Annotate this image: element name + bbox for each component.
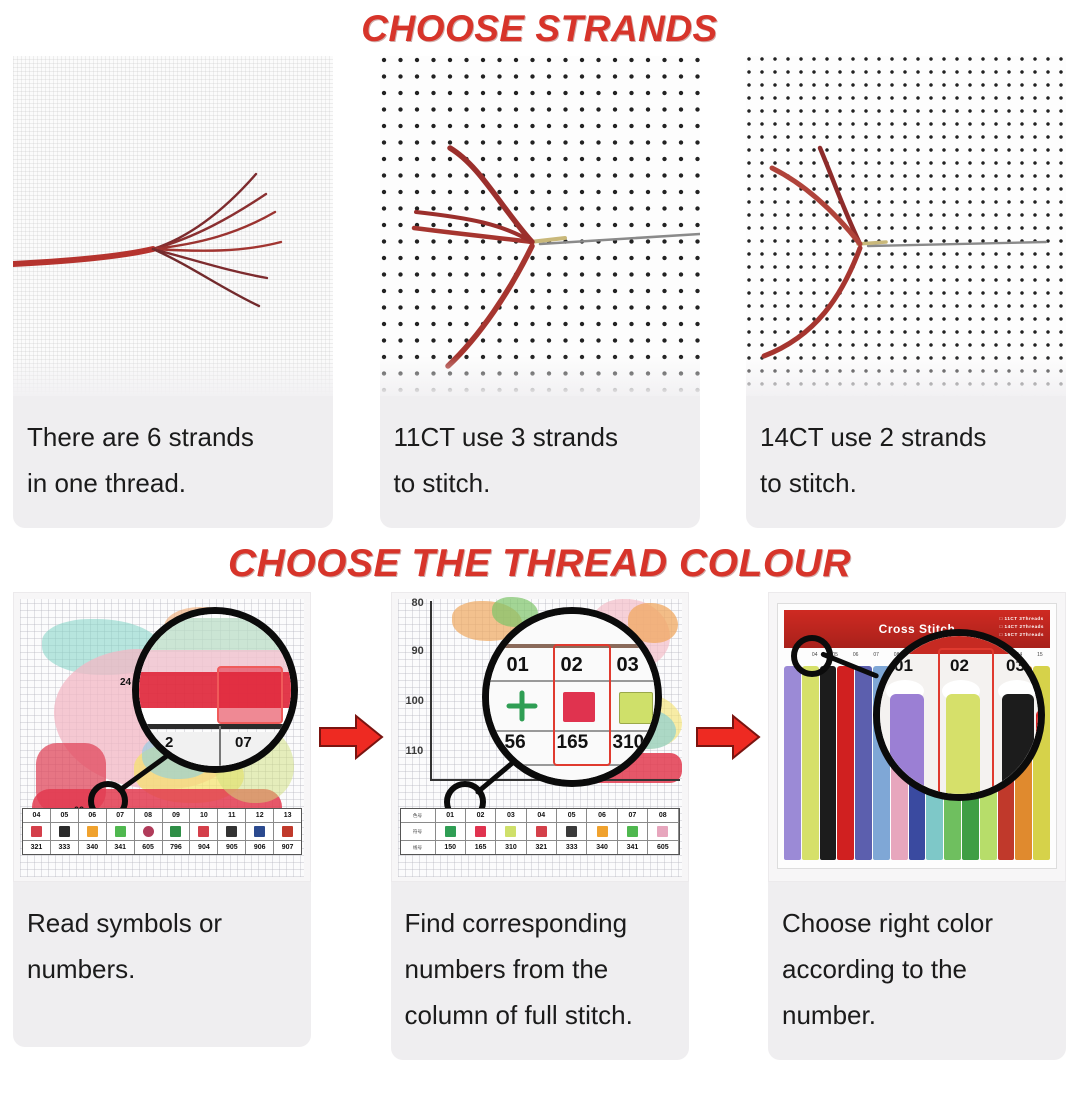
legend-column: 05333 bbox=[51, 809, 79, 854]
circle-icon bbox=[143, 826, 154, 837]
magnifier-column-01: 01 bbox=[507, 654, 529, 677]
pattern-chart-photo: 24 02 2 07 04321053330634007341086050979… bbox=[13, 592, 311, 882]
thread-skein bbox=[802, 666, 819, 860]
magnified-skein bbox=[890, 694, 924, 801]
table-symbol bbox=[466, 823, 495, 841]
card-six-strands: There are 6 strands in one thread. bbox=[13, 56, 333, 528]
table-header: 02 bbox=[466, 809, 495, 823]
table-code: 165 bbox=[466, 841, 495, 854]
legend-code: 340 bbox=[79, 841, 106, 854]
caption-line-3: column of full stitch. bbox=[405, 992, 675, 1038]
legend-column: 07341 bbox=[107, 809, 135, 854]
cross-symbol-icon bbox=[505, 690, 539, 722]
thread-skein bbox=[837, 666, 854, 860]
table-column: 05333 bbox=[557, 809, 587, 854]
six-strands-photo bbox=[13, 56, 333, 396]
colour-swatch-icon bbox=[445, 826, 456, 837]
photo-bottom-fade bbox=[380, 356, 700, 396]
leaf-icon bbox=[254, 826, 265, 837]
legend-symbol bbox=[163, 823, 190, 841]
colour-swatch bbox=[619, 692, 653, 724]
photo-bottom-fade bbox=[13, 356, 333, 396]
symbol-legend-table: 0432105333063400734108605097961090411905… bbox=[22, 808, 302, 855]
legend-symbol bbox=[107, 823, 134, 841]
table-code: 321 bbox=[527, 841, 556, 854]
table-header: 01 bbox=[436, 809, 465, 823]
table-row-label-3: 线号 bbox=[401, 841, 435, 854]
table-header: 05 bbox=[557, 809, 586, 823]
highlight-box bbox=[938, 648, 994, 801]
highlight-box bbox=[217, 666, 283, 724]
table-header: 03 bbox=[496, 809, 525, 823]
magnifier-number-left: 2 bbox=[165, 734, 173, 751]
caption-choose-colour: Choose right color according to the numb… bbox=[768, 882, 1066, 1060]
strands-card-row: There are 6 strands in one thread. 11CT … bbox=[0, 56, 1079, 528]
legend-column: 06340 bbox=[79, 809, 107, 854]
table-column: 06340 bbox=[587, 809, 617, 854]
legend-symbol bbox=[79, 823, 106, 841]
full-stitch-column-photo: 80 90 100 110 01 02 03 56 bbox=[391, 592, 689, 882]
arrow-2-container bbox=[691, 592, 765, 882]
table-header: 06 bbox=[587, 809, 616, 823]
table-code: 605 bbox=[648, 841, 677, 854]
caption-line-1: Read symbols or bbox=[27, 900, 297, 946]
thread-skein bbox=[820, 666, 837, 860]
caption-line-1: Find corresponding bbox=[405, 900, 675, 946]
table-row-label-2: 符号 bbox=[401, 823, 435, 841]
cross-icon bbox=[198, 826, 209, 837]
orange-square-icon bbox=[87, 826, 98, 837]
table-symbol bbox=[557, 823, 586, 841]
dot-icon bbox=[59, 826, 70, 837]
caption-find-numbers: Find corresponding numbers from the colu… bbox=[391, 882, 689, 1060]
table-symbol bbox=[648, 823, 677, 841]
card-choose-colour: Cross Stitch □ 11CT 3Threads□ 14CT 2Thre… bbox=[768, 592, 1066, 1060]
table-column: 08605 bbox=[648, 809, 678, 854]
table-header: 07 bbox=[618, 809, 647, 823]
table-symbol bbox=[496, 823, 525, 841]
thread-card-photo: Cross Stitch □ 11CT 3Threads□ 14CT 2Thre… bbox=[768, 592, 1066, 882]
magnifier-lens: 01 02 03 56 165 310 bbox=[482, 607, 662, 787]
right-arrow-icon bbox=[695, 713, 761, 761]
legend-symbol bbox=[274, 823, 301, 841]
colour-swatch-icon bbox=[657, 826, 668, 837]
table-column: 02165 bbox=[466, 809, 496, 854]
legend-code: 341 bbox=[107, 841, 134, 854]
table-symbol bbox=[436, 823, 465, 841]
legend-column: 08605 bbox=[135, 809, 163, 854]
caption-line-3: number. bbox=[782, 992, 1052, 1038]
legend-column: 04321 bbox=[23, 809, 51, 854]
colour-swatch-icon bbox=[505, 826, 516, 837]
card-11ct: 11CT use 3 strands to stitch. bbox=[380, 56, 700, 528]
caption-14ct: 14CT use 2 strands to stitch. bbox=[746, 396, 1066, 528]
colour-swatch-icon bbox=[566, 826, 577, 837]
legend-number: 09 bbox=[163, 809, 190, 823]
axis-tick-90: 90 bbox=[412, 645, 424, 657]
caption-line-2: to stitch. bbox=[394, 460, 686, 506]
magnifier-label-03: 03 bbox=[1006, 656, 1025, 676]
two-strands-needle-icon bbox=[746, 56, 1066, 396]
colour-card-row: 24 02 2 07 04321053330634007341086050979… bbox=[0, 592, 1079, 1060]
slash-icon bbox=[226, 826, 237, 837]
magnifier-column-03: 03 bbox=[617, 654, 639, 677]
caption-line-1: There are 6 strands bbox=[27, 414, 319, 460]
legend-number: 08 bbox=[135, 809, 162, 823]
table-column: 07341 bbox=[618, 809, 648, 854]
legend-symbol bbox=[135, 823, 162, 841]
colour-swatch-icon bbox=[627, 826, 638, 837]
three-strands-needle-icon bbox=[380, 56, 700, 396]
triangle-icon bbox=[31, 826, 42, 837]
caption-11ct: 11CT use 3 strands to stitch. bbox=[380, 396, 700, 528]
11ct-aida-photo bbox=[380, 56, 700, 396]
magnifier-lens: 01 02 03 bbox=[873, 629, 1045, 801]
14ct-aida-photo bbox=[746, 56, 1066, 396]
legend-number: 06 bbox=[79, 809, 106, 823]
caption-line-2: numbers from the bbox=[405, 946, 675, 992]
table-symbol bbox=[587, 823, 616, 841]
magnifier-code-3: 310 bbox=[613, 732, 645, 754]
arrow-1-container bbox=[314, 592, 388, 882]
chart-cell-number: 24 bbox=[120, 677, 131, 688]
legend-code: 906 bbox=[246, 841, 273, 854]
legend-number: 13 bbox=[274, 809, 301, 823]
caption-line-2: according to the bbox=[782, 946, 1052, 992]
table-column: 03310 bbox=[496, 809, 526, 854]
card-find-numbers: 80 90 100 110 01 02 03 56 bbox=[391, 592, 689, 1060]
right-arrow-icon bbox=[318, 713, 384, 761]
table-symbol bbox=[527, 823, 556, 841]
magnifier-code-1: 56 bbox=[505, 732, 526, 754]
chart-y-axis bbox=[430, 601, 432, 779]
legend-code: 904 bbox=[190, 841, 217, 854]
caption-line-2: numbers. bbox=[27, 946, 297, 992]
table-column: 01150 bbox=[436, 809, 466, 854]
legend-code: 333 bbox=[51, 841, 78, 854]
legend-number: 05 bbox=[51, 809, 78, 823]
legend-number: 07 bbox=[107, 809, 134, 823]
caret-icon bbox=[282, 826, 293, 837]
legend-code: 905 bbox=[218, 841, 245, 854]
dark-green-square-icon bbox=[170, 826, 181, 837]
thread-skein bbox=[855, 666, 872, 860]
caption-line-1: Choose right color bbox=[782, 900, 1052, 946]
legend-column: 13907 bbox=[274, 809, 301, 854]
magnified-skein bbox=[1002, 694, 1034, 800]
axis-tick-80: 80 bbox=[412, 597, 424, 609]
colour-swatch-icon bbox=[536, 826, 547, 837]
legend-symbol bbox=[51, 823, 78, 841]
photo-bottom-fade bbox=[746, 356, 1066, 396]
legend-code: 796 bbox=[163, 841, 190, 854]
caption-line-1: 14CT use 2 strands bbox=[760, 414, 1052, 460]
caption-line-2: in one thread. bbox=[27, 460, 319, 506]
highlight-box bbox=[553, 644, 611, 766]
magnifier-number-right: 07 bbox=[235, 734, 252, 751]
legend-symbol bbox=[218, 823, 245, 841]
table-code: 340 bbox=[587, 841, 616, 854]
magnifier-label-01: 01 bbox=[894, 656, 913, 676]
legend-code: 605 bbox=[135, 841, 162, 854]
header-legend-item: □ 14CT 2Threads bbox=[1000, 623, 1045, 631]
card-14ct: 14CT use 2 strands to stitch. bbox=[746, 56, 1066, 528]
legend-code: 321 bbox=[23, 841, 50, 854]
legend-number: 12 bbox=[246, 809, 273, 823]
legend-number: 04 bbox=[23, 809, 50, 823]
legend-column: 09796 bbox=[163, 809, 191, 854]
magnifier-lens: 2 07 bbox=[132, 607, 298, 773]
legend-symbol bbox=[246, 823, 273, 841]
legend-number: 10 bbox=[190, 809, 217, 823]
table-code: 333 bbox=[557, 841, 586, 854]
caption-line-2: to stitch. bbox=[760, 460, 1052, 506]
table-code: 310 bbox=[496, 841, 525, 854]
caption-six-strands: There are 6 strands in one thread. bbox=[13, 396, 333, 528]
table-row-label-1: 色号 bbox=[401, 809, 435, 823]
header-legend-item: □ 11CT 3Threads bbox=[1000, 615, 1045, 623]
thread-skein bbox=[784, 666, 801, 860]
colour-swatch-icon bbox=[597, 826, 608, 837]
green-square-icon bbox=[115, 826, 126, 837]
table-header: 04 bbox=[527, 809, 556, 823]
caption-line-1: 11CT use 3 strands bbox=[394, 414, 686, 460]
axis-tick-110: 110 bbox=[406, 745, 424, 757]
axis-tick-100: 100 bbox=[406, 695, 424, 707]
legend-column: 10904 bbox=[190, 809, 218, 854]
section-title-choose-strands: CHOOSE STRANDS bbox=[0, 0, 1079, 56]
legend-code: 907 bbox=[274, 841, 301, 854]
full-stitch-table: 色号 符号 线号 0115002165033100432105333063400… bbox=[400, 808, 680, 855]
table-code: 341 bbox=[618, 841, 647, 854]
table-code: 150 bbox=[436, 841, 465, 854]
colour-swatch-icon bbox=[475, 826, 486, 837]
table-symbol bbox=[618, 823, 647, 841]
six-strands-icon bbox=[13, 56, 333, 396]
table-header: 08 bbox=[648, 809, 677, 823]
section-title-choose-thread-colour: CHOOSE THE THREAD COLOUR bbox=[0, 528, 1079, 592]
legend-symbol bbox=[190, 823, 217, 841]
table-column: 04321 bbox=[527, 809, 557, 854]
legend-number: 11 bbox=[218, 809, 245, 823]
caption-read-symbols: Read symbols or numbers. bbox=[13, 882, 311, 1047]
legend-column: 12906 bbox=[246, 809, 274, 854]
legend-symbol bbox=[23, 823, 50, 841]
card-read-symbols: 24 02 2 07 04321053330634007341086050979… bbox=[13, 592, 311, 1060]
legend-column: 11905 bbox=[218, 809, 246, 854]
